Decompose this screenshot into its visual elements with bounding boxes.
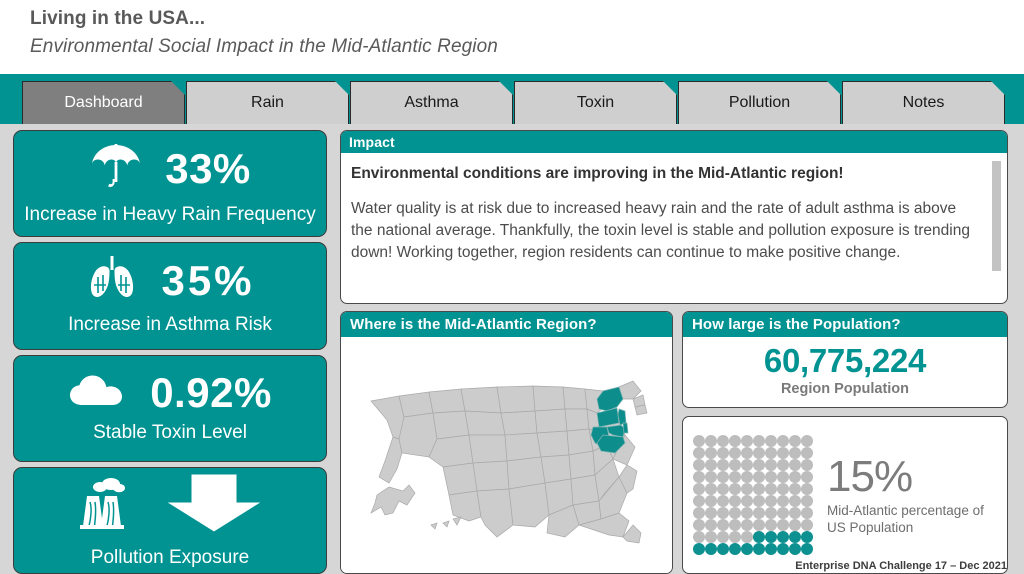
waffle-dot	[741, 483, 753, 495]
kpi-card-pollution[interactable]: Pollution Exposure	[13, 467, 327, 574]
waffle-dot	[729, 483, 741, 495]
waffle-dot	[705, 495, 717, 507]
tab-label: Notes	[903, 94, 945, 112]
waffle-dot	[717, 495, 729, 507]
impact-body-text: Water quality is at risk due to increase…	[351, 198, 981, 264]
waffle-dot	[777, 483, 789, 495]
waffle-dot	[789, 447, 801, 459]
kpi-value: 0.92%	[150, 372, 272, 414]
waffle-dot	[693, 543, 705, 555]
kpi-column: 33% Increase in Heavy Rain Frequency 35%…	[13, 130, 327, 574]
cloud-icon	[68, 373, 128, 414]
waffle-dot	[693, 507, 705, 519]
waffle-dot	[777, 435, 789, 447]
impact-panel: Impact Environmental conditions are impr…	[340, 130, 1008, 304]
waffle-dot	[789, 483, 801, 495]
waffle-dot	[705, 435, 717, 447]
waffle-dot	[753, 543, 765, 555]
kpi-label: Increase in Heavy Rain Frequency	[24, 205, 315, 226]
tab-notes[interactable]: Notes	[842, 81, 1005, 124]
waffle-dot	[705, 543, 717, 555]
tab-toxin[interactable]: Toxin	[514, 81, 677, 124]
waffle-dot	[765, 507, 777, 519]
impact-lead-text: Environmental conditions are improving i…	[351, 165, 981, 183]
tab-label: Rain	[251, 94, 284, 112]
waffle-dot	[801, 507, 813, 519]
waffle-dot	[777, 495, 789, 507]
waffle-dot	[693, 495, 705, 507]
waffle-dot	[801, 519, 813, 531]
waffle-dot	[717, 507, 729, 519]
waffle-dot	[693, 519, 705, 531]
kpi-value: 33%	[165, 148, 251, 190]
waffle-dot	[717, 435, 729, 447]
impact-panel-title: Impact	[341, 131, 1007, 153]
right-stack: How large is the Population? 60,775,224 …	[682, 311, 1008, 574]
waffle-dot	[705, 483, 717, 495]
tab-label: Toxin	[577, 94, 614, 112]
waffle-dot	[777, 447, 789, 459]
waffle-dot	[705, 507, 717, 519]
waffle-dot	[741, 543, 753, 555]
kpi-card-toxin[interactable]: 0.92% Stable Toxin Level	[13, 355, 327, 462]
waffle-dot	[705, 459, 717, 471]
waffle-dot	[753, 483, 765, 495]
tab-label: Pollution	[729, 94, 790, 112]
page-subtitle: Environmental Social Impact in the Mid-A…	[30, 36, 1024, 58]
waffle-dot	[693, 531, 705, 543]
waffle-dot	[729, 543, 741, 555]
population-label: Region Population	[781, 381, 909, 397]
waffle-chart	[693, 435, 813, 555]
map-panel-title: Where is the Mid-Atlantic Region?	[341, 312, 672, 337]
kpi-label: Increase in Asthma Risk	[68, 315, 272, 336]
waffle-dot	[753, 459, 765, 471]
waffle-dot	[693, 483, 705, 495]
tab-dashboard[interactable]: Dashboard	[22, 81, 185, 124]
waffle-dot	[717, 543, 729, 555]
waffle-dot	[765, 471, 777, 483]
waffle-dot	[801, 471, 813, 483]
dashboard-main: 33% Increase in Heavy Rain Frequency 35%…	[0, 124, 1024, 574]
waffle-dot	[729, 471, 741, 483]
waffle-dot	[789, 471, 801, 483]
population-panel-title: How large is the Population?	[683, 312, 1007, 337]
waffle-description-line2: US Population	[827, 520, 913, 535]
waffle-dot	[705, 531, 717, 543]
waffle-dot	[717, 531, 729, 543]
waffle-dot	[717, 459, 729, 471]
lungs-icon	[85, 255, 139, 306]
waffle-dot	[801, 531, 813, 543]
factory-icon	[74, 474, 140, 537]
waffle-dot	[741, 519, 753, 531]
waffle-dot	[705, 519, 717, 531]
waffle-dot	[693, 435, 705, 447]
waffle-dot	[717, 519, 729, 531]
waffle-dot	[729, 435, 741, 447]
population-value: 60,775,224	[764, 344, 926, 379]
umbrella-icon	[89, 141, 143, 196]
waffle-dot	[765, 531, 777, 543]
kpi-card-asthma[interactable]: 35% Increase in Asthma Risk	[13, 242, 327, 349]
waffle-dot	[777, 507, 789, 519]
waffle-dot	[729, 507, 741, 519]
impact-scrollbar-thumb[interactable]	[992, 161, 1001, 271]
waffle-dot	[753, 519, 765, 531]
waffle-dot	[801, 483, 813, 495]
waffle-dot	[741, 507, 753, 519]
waffle-dot	[777, 531, 789, 543]
waffle-text-block: 15% Mid-Atlantic percentage of US Popula…	[827, 454, 999, 536]
waffle-dot	[753, 435, 765, 447]
waffle-dot	[693, 459, 705, 471]
waffle-dot	[765, 483, 777, 495]
waffle-dot	[789, 543, 801, 555]
tab-pollution[interactable]: Pollution	[678, 81, 841, 124]
waffle-dot	[801, 459, 813, 471]
waffle-dot	[789, 531, 801, 543]
waffle-dot	[729, 459, 741, 471]
waffle-dot	[801, 435, 813, 447]
waffle-dot	[801, 543, 813, 555]
waffle-dot	[801, 495, 813, 507]
waffle-dot	[789, 507, 801, 519]
waffle-panel: 15% Mid-Atlantic percentage of US Popula…	[682, 416, 1008, 574]
waffle-dot	[705, 471, 717, 483]
waffle-dot	[741, 447, 753, 459]
tab-label: Asthma	[404, 94, 458, 112]
waffle-dot	[753, 471, 765, 483]
map-panel: Where is the Mid-Atlantic Region?	[340, 311, 673, 574]
waffle-dot	[705, 447, 717, 459]
population-panel-body: 60,775,224 Region Population	[683, 337, 1007, 407]
us-map[interactable]	[341, 337, 672, 573]
waffle-dot	[777, 459, 789, 471]
waffle-dot	[765, 447, 777, 459]
waffle-dot	[765, 519, 777, 531]
waffle-dot	[765, 459, 777, 471]
waffle-dot	[789, 519, 801, 531]
waffle-dot	[729, 519, 741, 531]
waffle-dot	[765, 495, 777, 507]
waffle-dot	[741, 471, 753, 483]
waffle-dot	[729, 531, 741, 543]
waffle-dot	[729, 447, 741, 459]
waffle-dot	[777, 543, 789, 555]
waffle-dot	[789, 459, 801, 471]
down-arrow-icon	[162, 472, 266, 539]
waffle-dot	[717, 471, 729, 483]
kpi-label: Stable Toxin Level	[93, 423, 247, 444]
population-panel: How large is the Population? 60,775,224 …	[682, 311, 1008, 408]
waffle-dot	[777, 519, 789, 531]
waffle-dot	[765, 435, 777, 447]
waffle-dot	[753, 531, 765, 543]
waffle-description: Mid-Atlantic percentage of US Population	[827, 502, 999, 537]
kpi-card-rain[interactable]: 33% Increase in Heavy Rain Frequency	[13, 130, 327, 237]
tab-rain[interactable]: Rain	[186, 81, 349, 124]
footer-credit: Enterprise DNA Challenge 17 – Dec 2021	[795, 560, 1007, 572]
waffle-dot	[693, 447, 705, 459]
waffle-dot	[693, 471, 705, 483]
kpi-label: Pollution Exposure	[91, 548, 249, 569]
waffle-dot	[753, 507, 765, 519]
waffle-percent: 15%	[827, 456, 999, 498]
page-title: Living in the USA...	[30, 8, 1024, 30]
tab-asthma[interactable]: Asthma	[350, 81, 513, 124]
bottom-row: Where is the Mid-Atlantic Region?	[340, 311, 1008, 574]
waffle-dot	[717, 447, 729, 459]
waffle-dot	[717, 483, 729, 495]
waffle-dot	[777, 471, 789, 483]
waffle-dot	[741, 459, 753, 471]
waffle-dot	[789, 495, 801, 507]
waffle-dot	[741, 531, 753, 543]
tab-label: Dashboard	[64, 94, 142, 112]
waffle-dot	[729, 495, 741, 507]
waffle-dot	[741, 495, 753, 507]
waffle-dot	[741, 435, 753, 447]
kpi-value: 35%	[161, 260, 254, 302]
impact-panel-body: Environmental conditions are improving i…	[341, 153, 1007, 264]
waffle-dot	[753, 495, 765, 507]
tab-bar: Dashboard Rain Asthma Toxin Pollution No…	[0, 74, 1024, 124]
waffle-dot	[789, 435, 801, 447]
page-header: Living in the USA... Environmental Socia…	[0, 0, 1024, 74]
content-column: Impact Environmental conditions are impr…	[340, 130, 1008, 574]
waffle-dot	[765, 543, 777, 555]
waffle-dot	[801, 447, 813, 459]
waffle-dot	[753, 447, 765, 459]
waffle-description-line1: Mid-Atlantic percentage of	[827, 503, 984, 518]
